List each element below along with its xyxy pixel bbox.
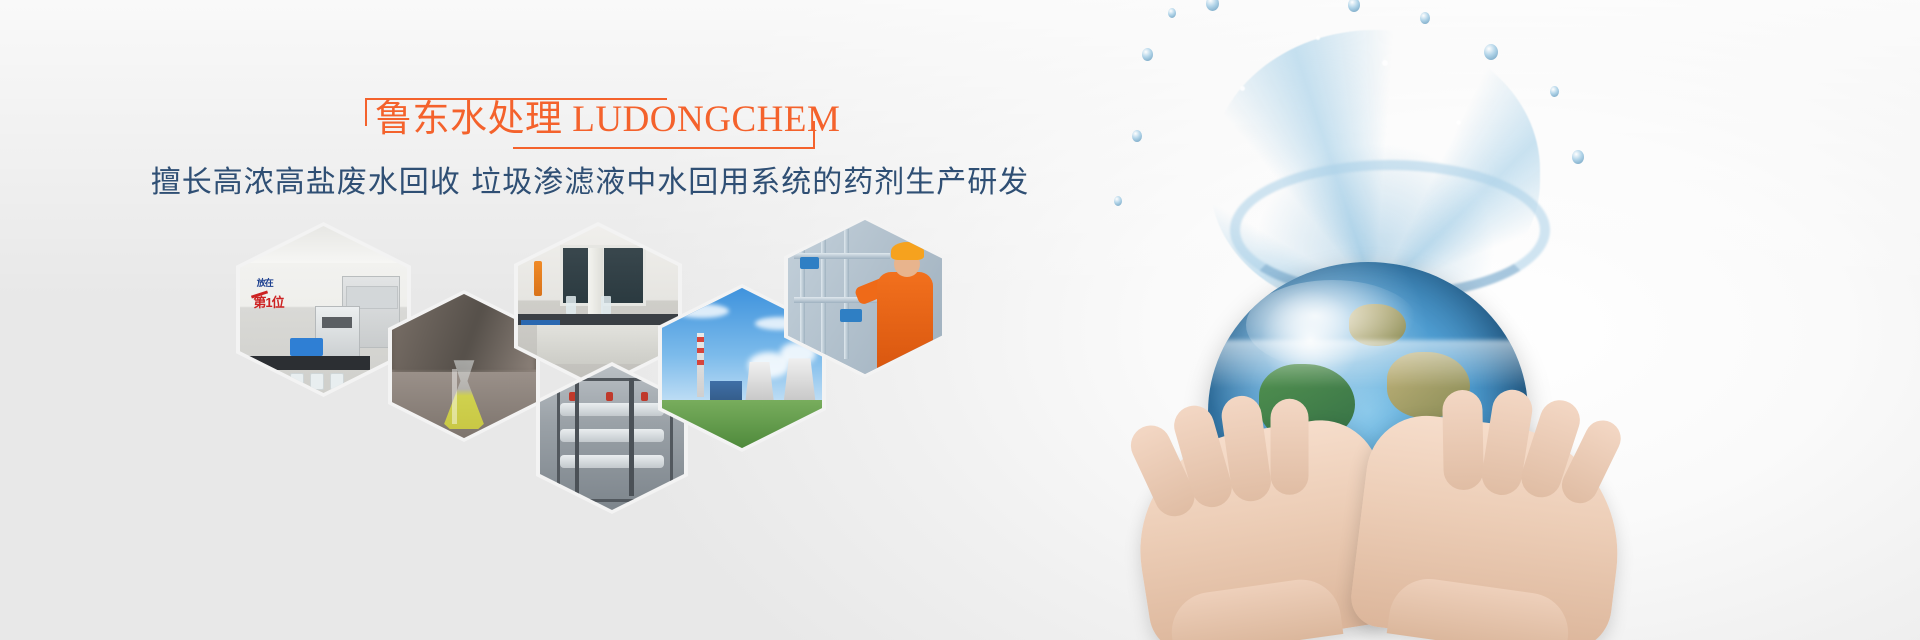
banner-text-block: 鲁东水处理 LUDONGCHEM 擅长高浓高盐废水回收 垃圾渗滤液中水回用系统的… [0,92,1180,204]
wall-slogan-line1: 放在 [257,276,273,289]
hex-image-laboratory-room: 放在 第1位 [240,226,407,393]
company-banner: 鲁东水处理 LUDONGCHEM 擅长高浓高盐废水回收 垃圾渗滤液中水回用系统的… [0,0,1920,640]
hexagon-photo-cluster: 放在 第1位 [236,222,956,512]
wall-slogan-overlay: 放在 第1位 [253,276,310,309]
banner-subtitle: 擅长高浓高盐废水回收 垃圾渗滤液中水回用系统的药剂生产研发 [0,162,1180,204]
hero-water-globe-image [1060,0,1920,640]
banner-title-wrapper: 鲁东水处理 LUDONGCHEM [355,92,825,148]
hex-tile-laboratory-room[interactable]: 放在 第1位 [236,222,411,397]
banner-title: 鲁东水处理 LUDONGCHEM [355,92,825,148]
wall-slogan-line2: 第1位 [253,292,283,311]
